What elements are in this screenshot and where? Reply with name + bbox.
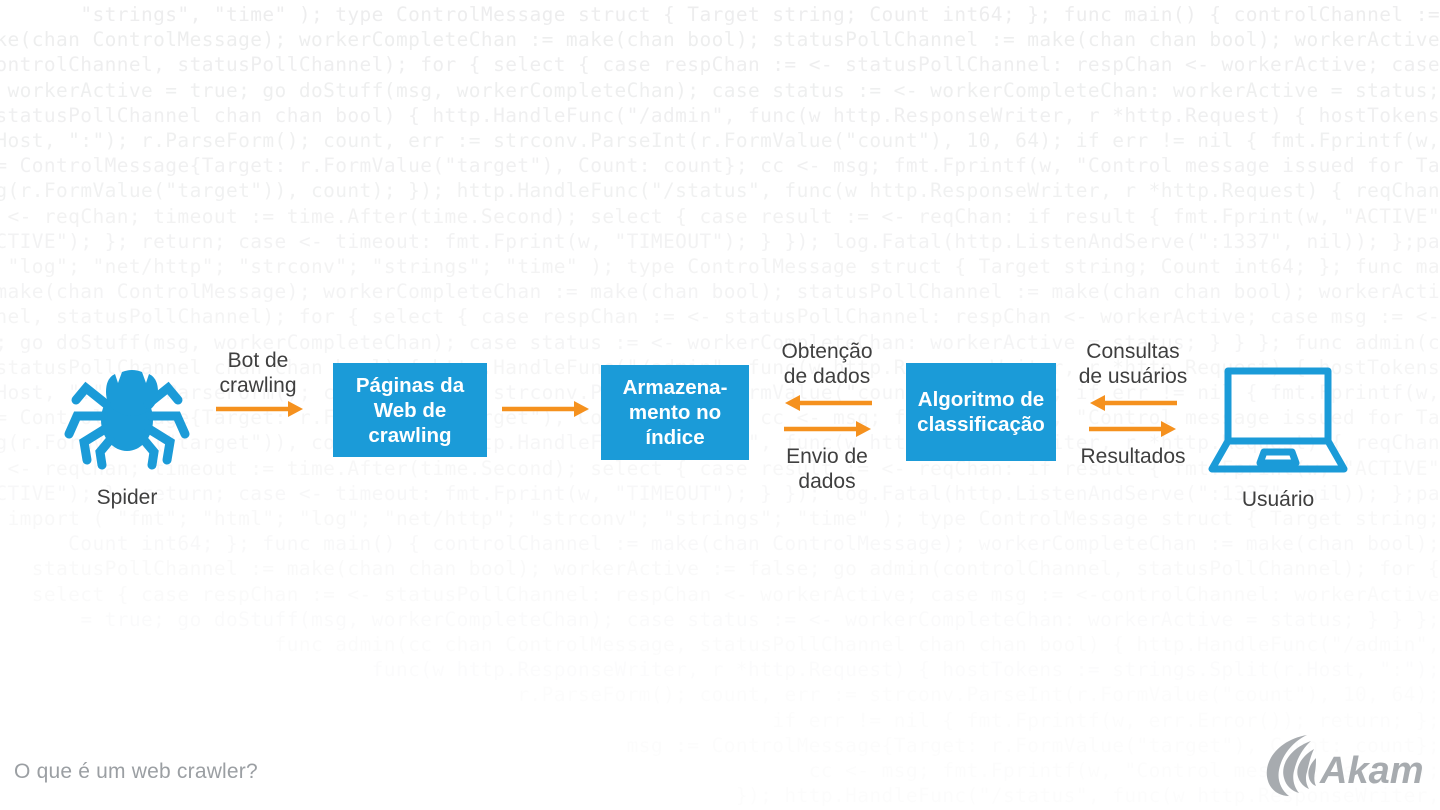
akamai-logo-mark: Akamai (1262, 731, 1422, 797)
box-index-storage-label: Armazena- mento no índice (601, 375, 749, 450)
arrow-results-right (1087, 418, 1179, 440)
box-ranking-algorithm[interactable]: Algoritmo de classificação (906, 363, 1056, 461)
box-ranking-algorithm-label: Algoritmo de classificação (906, 387, 1056, 437)
fetch-data-label: Obtenção de dados (760, 339, 894, 389)
spider-node (62, 348, 192, 470)
spider-caption: Spider (47, 485, 207, 510)
arrow-pages-to-index (500, 398, 592, 420)
laptop-icon (1206, 366, 1350, 478)
user-queries-label: Consultas de usuários (1063, 339, 1203, 389)
send-data-label: Envio de dados (760, 444, 894, 494)
arrow-index-fetch-left (782, 392, 874, 414)
arrow-index-send-right (782, 418, 874, 440)
box-web-pages[interactable]: Páginas da Web de crawling (333, 363, 487, 457)
web-crawler-diagram: Spider Bot de crawling Páginas da Web de… (0, 0, 1440, 810)
box-index-storage[interactable]: Armazena- mento no índice (601, 365, 749, 460)
arrow-user-query-left (1087, 392, 1179, 414)
akamai-logo: Akamai (1262, 731, 1422, 802)
akamai-logo-text: Akamai (1319, 750, 1422, 792)
box-web-pages-label: Páginas da Web de crawling (333, 373, 487, 448)
user-caption: Usuário (1198, 487, 1358, 512)
slide-canvas: "strings", "time" ); type ControlMessage… (0, 0, 1440, 810)
results-label: Resultados (1063, 444, 1203, 469)
user-node (1206, 366, 1350, 478)
spider-icon (62, 348, 192, 470)
arrow-spider-to-pages (214, 398, 306, 420)
page-title: O que é um web crawler? (14, 760, 258, 784)
crawl-bot-label: Bot de crawling (188, 348, 328, 398)
